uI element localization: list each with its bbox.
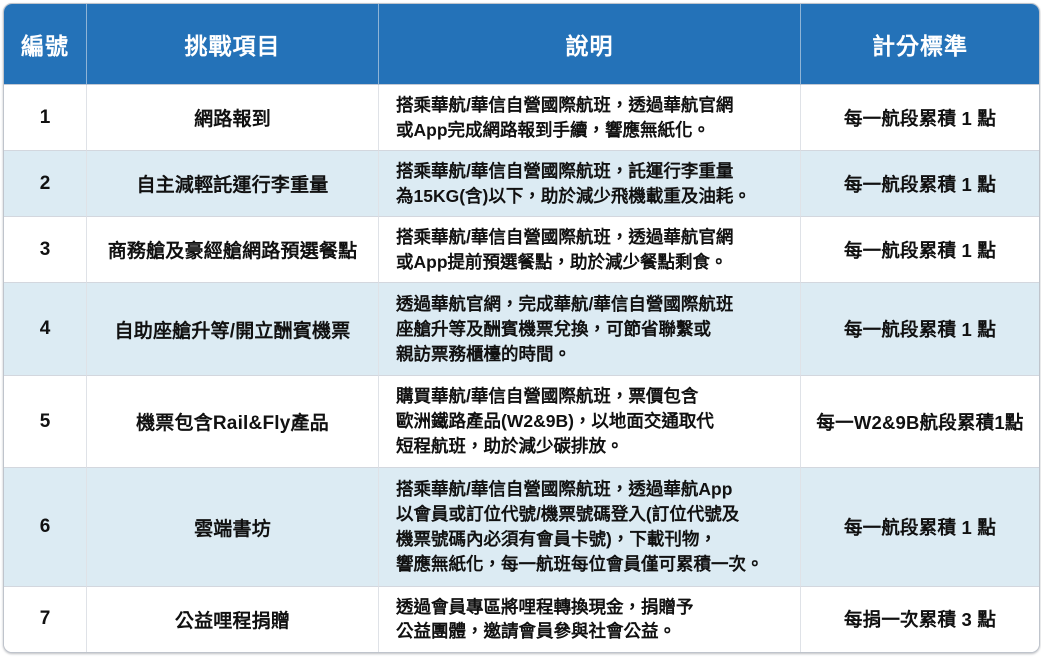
cell-row-number: 3	[4, 217, 87, 283]
description-line: 或App提前預選餐點，助於減少餐點剩食。	[396, 250, 792, 275]
cell-challenge-item: 自助座艙升等/開立酬賓機票	[87, 283, 379, 375]
table-row: 4自助座艙升等/開立酬賓機票透過華航官網，完成華航/華信自營國際航班座艙升等及酬…	[4, 283, 1039, 375]
description-line: 短程航班，助於減少碳排放。	[396, 434, 792, 459]
cell-challenge-item: 商務艙及豪經艙網路預選餐點	[87, 217, 379, 283]
table-body: 1網路報到搭乘華航/華信自營國際航班，透過華航官網或App完成網路報到手續，響應…	[4, 85, 1039, 652]
cell-challenge-item: 網路報到	[87, 85, 379, 151]
description-line: 透過會員專區將哩程轉換現金，捐贈予	[396, 595, 792, 620]
cell-description: 購買華航/華信自營國際航班，票價包含歐洲鐵路產品(W2&9B)，以地面交通取代短…	[379, 376, 801, 468]
cell-challenge-item: 公益哩程捐贈	[87, 587, 379, 652]
table-row: 3商務艙及豪經艙網路預選餐點搭乘華航/華信自營國際航班，透過華航官網或App提前…	[4, 217, 1039, 283]
description-line: 搭乘華航/華信自營國際航班，透過華航App	[396, 477, 792, 502]
description-line: 以會員或訂位代號/機票號碼登入(訂位代號及	[396, 502, 792, 527]
table-row: 5機票包含Rail&Fly產品購買華航/華信自營國際航班，票價包含歐洲鐵路產品(…	[4, 376, 1039, 468]
cell-description: 搭乘華航/華信自營國際航班，託運行李重量為15KG(含)以下，助於減少飛機載重及…	[379, 151, 801, 217]
cell-challenge-item: 自主減輕託運行李重量	[87, 151, 379, 217]
cell-row-number: 4	[4, 283, 87, 375]
description-line: 機票號碼內必須有會員卡號)，下載刊物，	[396, 527, 792, 552]
table-row: 7公益哩程捐贈透過會員專區將哩程轉換現金，捐贈予公益團體，邀請會員參與社會公益。…	[4, 587, 1039, 652]
description-line: 親訪票務櫃檯的時間。	[396, 342, 792, 367]
column-header-score: 計分標準	[801, 4, 1039, 85]
column-header-no: 編號	[4, 4, 87, 85]
table-header: 編號 挑戰項目 說明 計分標準	[4, 4, 1039, 85]
description-line: 搭乘華航/華信自營國際航班，透過華航官網	[396, 93, 792, 118]
cell-challenge-item: 機票包含Rail&Fly產品	[87, 376, 379, 468]
cell-row-number: 1	[4, 85, 87, 151]
cell-description: 搭乘華航/華信自營國際航班，透過華航官網或App完成網路報到手續，響應無紙化。	[379, 85, 801, 151]
cell-score-criteria: 每一航段累積 1 點	[801, 283, 1039, 375]
description-line: 歐洲鐵路產品(W2&9B)，以地面交通取代	[396, 409, 792, 434]
cell-score-criteria: 每一W2&9B航段累積1點	[801, 376, 1039, 468]
cell-description: 搭乘華航/華信自營國際航班，透過華航官網或App提前預選餐點，助於減少餐點剩食。	[379, 217, 801, 283]
description-line: 響應無紙化，每一航班每位會員僅可累積一次。	[396, 552, 792, 577]
cell-description: 搭乘華航/華信自營國際航班，透過華航App以會員或訂位代號/機票號碼登入(訂位代…	[379, 468, 801, 587]
description-line: 搭乘華航/華信自營國際航班，透過華航官網	[396, 225, 792, 250]
table-row: 6雲端書坊搭乘華航/華信自營國際航班，透過華航App以會員或訂位代號/機票號碼登…	[4, 468, 1039, 587]
cell-row-number: 7	[4, 587, 87, 652]
description-line: 或App完成網路報到手續，響應無紙化。	[396, 118, 792, 143]
description-line: 座艙升等及酬賓機票兌換，可節省聯繫或	[396, 317, 792, 342]
description-line: 搭乘華航/華信自營國際航班，託運行李重量	[396, 159, 792, 184]
cell-score-criteria: 每一航段累積 1 點	[801, 217, 1039, 283]
cell-challenge-item: 雲端書坊	[87, 468, 379, 587]
cell-score-criteria: 每一航段累積 1 點	[801, 151, 1039, 217]
column-header-item: 挑戰項目	[87, 4, 379, 85]
column-header-desc: 說明	[379, 4, 801, 85]
table-row: 2自主減輕託運行李重量搭乘華航/華信自營國際航班，託運行李重量為15KG(含)以…	[4, 151, 1039, 217]
cell-row-number: 5	[4, 376, 87, 468]
cell-description: 透過華航官網，完成華航/華信自營國際航班座艙升等及酬賓機票兌換，可節省聯繫或親訪…	[379, 283, 801, 375]
description-line: 透過華航官網，完成華航/華信自營國際航班	[396, 292, 792, 317]
challenge-table-container: 編號 挑戰項目 說明 計分標準 1網路報到搭乘華航/華信自營國際航班，透過華航官…	[3, 3, 1038, 653]
table-row: 1網路報到搭乘華航/華信自營國際航班，透過華航官網或App完成網路報到手續，響應…	[4, 85, 1039, 151]
cell-score-criteria: 每捐一次累積 3 點	[801, 587, 1039, 652]
cell-description: 透過會員專區將哩程轉換現金，捐贈予公益團體，邀請會員參與社會公益。	[379, 587, 801, 652]
description-line: 購買華航/華信自營國際航班，票價包含	[396, 384, 792, 409]
cell-row-number: 6	[4, 468, 87, 587]
description-line: 為15KG(含)以下，助於減少飛機載重及油耗。	[396, 184, 792, 209]
cell-score-criteria: 每一航段累積 1 點	[801, 85, 1039, 151]
cell-score-criteria: 每一航段累積 1 點	[801, 468, 1039, 587]
header-row: 編號 挑戰項目 說明 計分標準	[4, 4, 1039, 85]
cell-row-number: 2	[4, 151, 87, 217]
challenge-table: 編號 挑戰項目 說明 計分標準 1網路報到搭乘華航/華信自營國際航班，透過華航官…	[3, 3, 1040, 653]
description-line: 公益團體，邀請會員參與社會公益。	[396, 619, 792, 644]
